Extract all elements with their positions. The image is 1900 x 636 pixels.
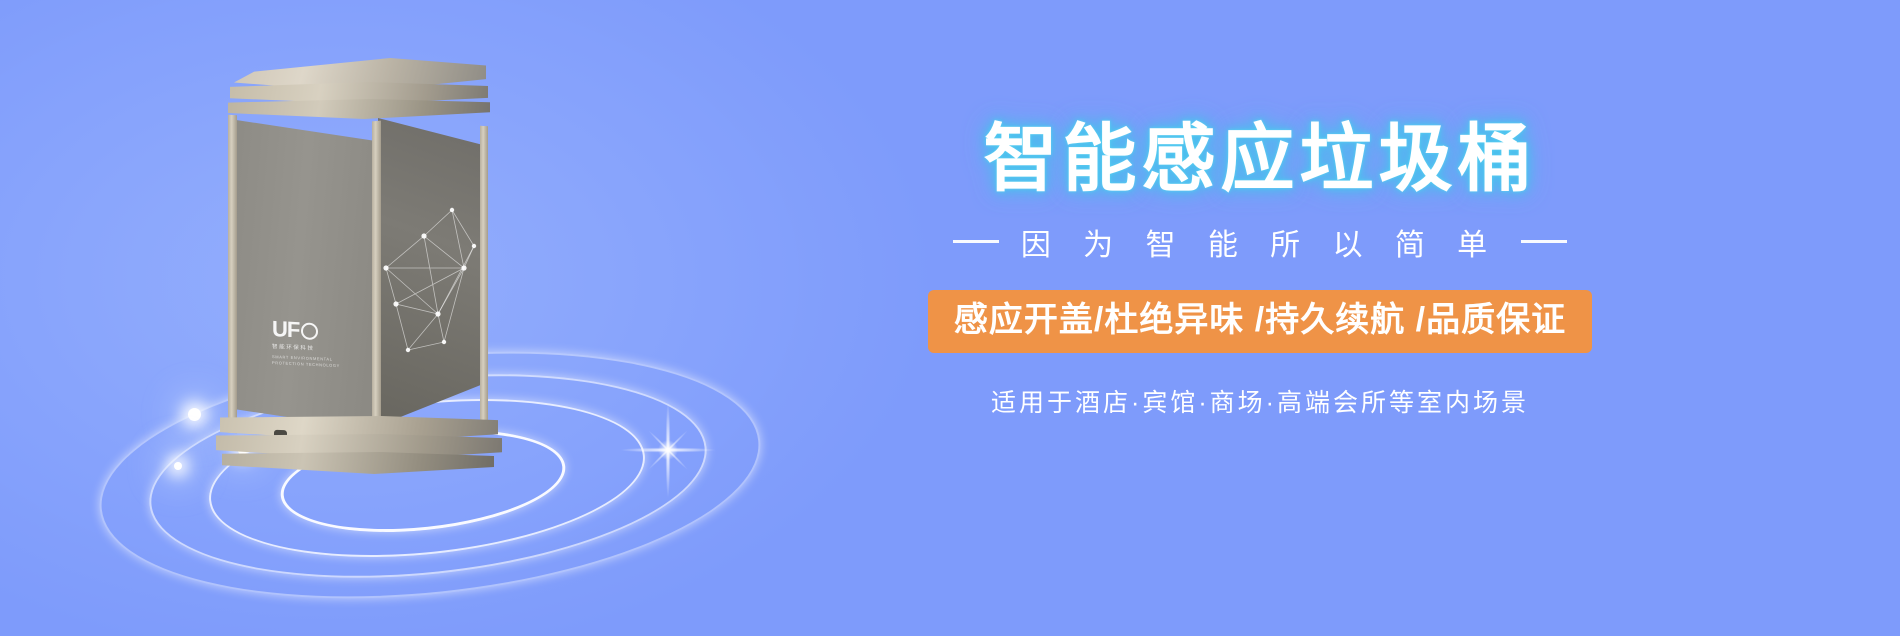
- polygon-network-graphic: [378, 118, 486, 426]
- feature-tagline-badge: 感应开盖/杜绝异味 /持久续航 /品质保证: [928, 290, 1592, 353]
- dash-left-icon: [953, 240, 999, 243]
- logo-mark: UF: [272, 318, 358, 344]
- logo-chinese-name: 智能环保科技: [272, 342, 358, 354]
- product-brand-logo: UF 智能环保科技 SMART ENVIRONMENTAL PROTECTION…: [272, 318, 358, 370]
- headline-title: 智能感应垃圾桶: [840, 120, 1680, 198]
- product-promo-banner: UF 智能环保科技 SMART ENVIRONMENTAL PROTECTION…: [0, 0, 1900, 636]
- logo-letters: UF: [272, 318, 299, 341]
- glow-dot-icon: [174, 462, 182, 470]
- bin-lid-rim-lower: [228, 99, 490, 119]
- dash-right-icon: [1521, 240, 1567, 243]
- subline-row: 因 为 智 能 所 以 简 单: [840, 220, 1680, 264]
- logo-circle-icon: [301, 322, 318, 340]
- product-stage: UF 智能环保科技 SMART ENVIRONMENTAL PROTECTION…: [60, 20, 760, 620]
- tagline-wrapper: 感应开盖/杜绝异味 /持久续航 /品质保证: [840, 290, 1680, 353]
- bin-face-left: [232, 113, 380, 431]
- glow-dot-icon: [188, 408, 201, 421]
- bin-pillar-left: [228, 115, 237, 433]
- bin-pillar-right: [480, 126, 488, 427]
- subline-text: 因 为 智 能 所 以 简 单: [1021, 220, 1499, 264]
- marketing-copy-block: 智能感应垃圾桶 因 为 智 能 所 以 简 单 感应开盖/杜绝异味 /持久续航 …: [840, 120, 1680, 419]
- smart-trash-bin-product: UF 智能环保科技 SMART ENVIRONMENTAL PROTECTION…: [210, 58, 510, 448]
- usage-scenario-text: 适用于酒店·宾馆·商场·高端会所等室内场景: [840, 383, 1680, 419]
- bin-face-right: [378, 118, 486, 426]
- bin-pillar-center: [372, 121, 381, 434]
